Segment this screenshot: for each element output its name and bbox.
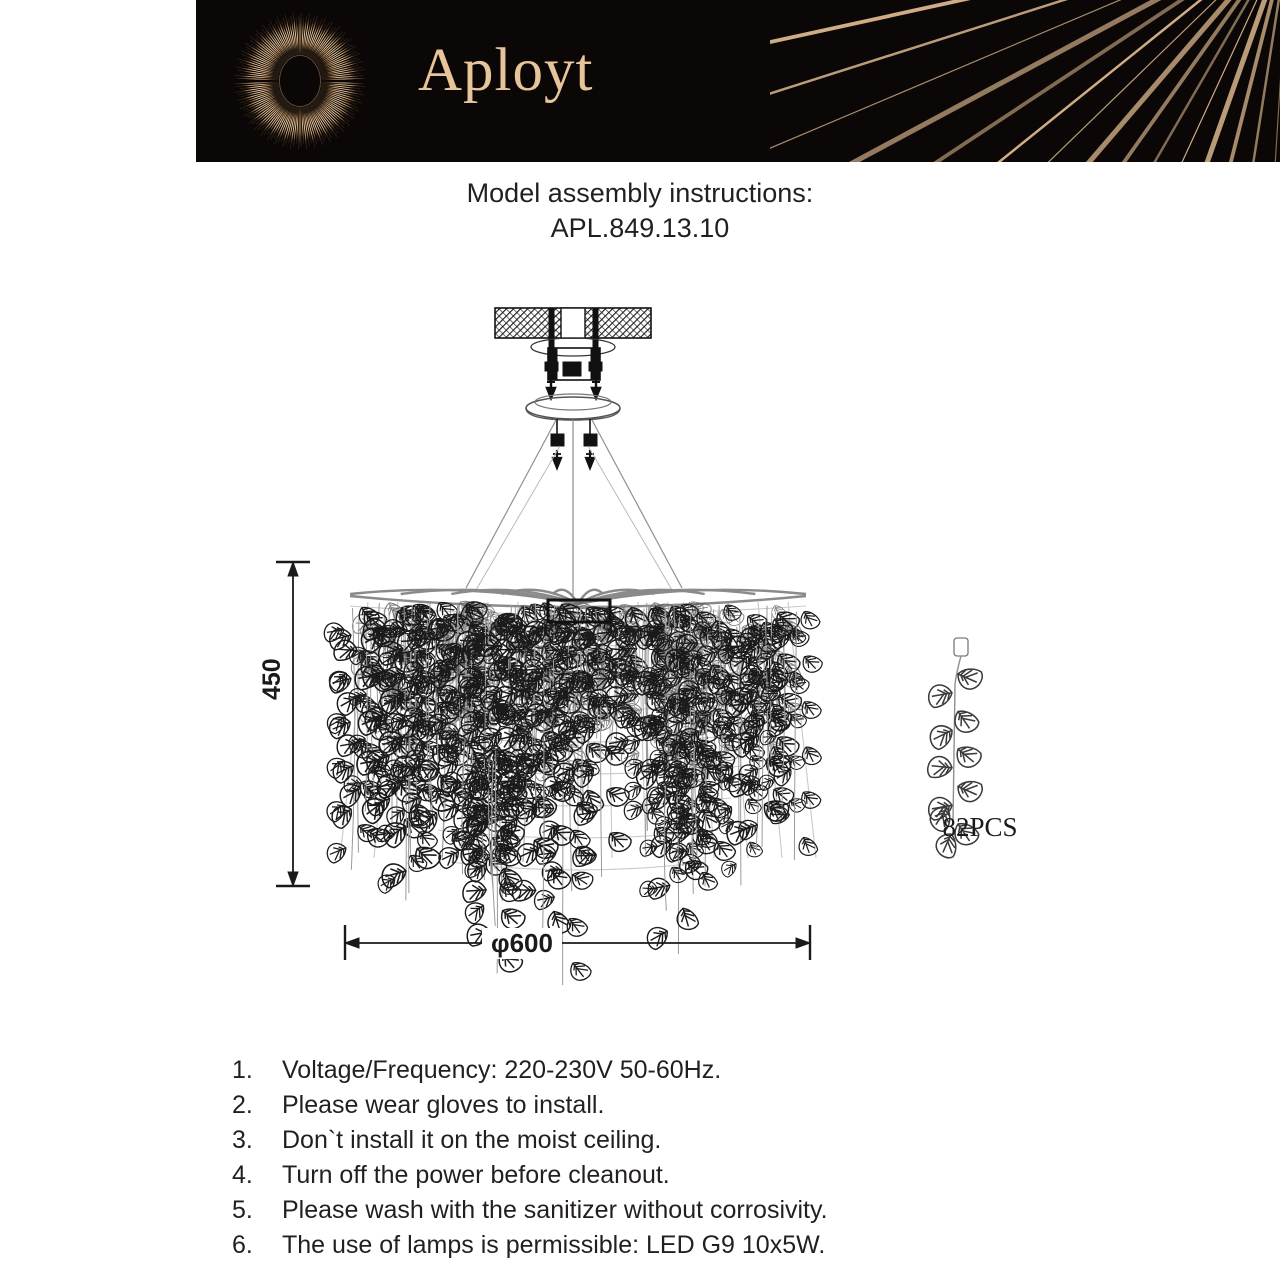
list-item-number: 4. [232,1161,282,1190]
list-item-text: Turn off the power before cleanout. [282,1161,670,1190]
suspension-cable-icon [466,420,682,615]
hatched-ceiling-plate-icon [495,308,651,338]
list-item: 1. Voltage/Frequency: 220-230V 50-60Hz. [232,1056,1232,1091]
instructions-list: 1. Voltage/Frequency: 220-230V 50-60Hz. … [232,1056,1232,1266]
title-line-2: APL.849.13.10 [0,211,1280,246]
list-item-text: Please wash with the sanitizer without c… [282,1196,828,1225]
page-title: Model assembly instructions: APL.849.13.… [0,176,1280,246]
list-item-text: The use of lamps is permissible: LED G9 … [282,1231,825,1260]
width-dimension-label: φ600 [482,928,562,959]
leaf-chandelier-icon [322,590,824,985]
ceiling-mount-group [466,308,682,615]
list-item-number: 1. [232,1056,282,1085]
title-line-1: Model assembly instructions: [0,176,1280,211]
list-item-number: 6. [232,1231,282,1260]
part-quantity-label: 82PCS [855,812,1105,843]
list-item-text: Don`t install it on the moist ceiling. [282,1126,661,1155]
height-dimension-line [276,562,310,886]
brand-wordmark: Aployt [418,36,593,106]
list-item: 4. Turn off the power before cleanout. [232,1161,1232,1196]
list-item-number: 2. [232,1091,282,1120]
list-item-number: 3. [232,1126,282,1155]
radial-rays-icon [770,0,1280,162]
assembly-drawing [0,270,1280,990]
dropper-group [551,419,597,468]
height-dimension-label: 450 [258,658,287,700]
header-banner: Aployt [196,0,1280,162]
list-item-text: Please wear gloves to install. [282,1091,604,1120]
list-item-text: Voltage/Frequency: 220-230V 50-60Hz. [282,1056,721,1085]
list-item: 6. The use of lamps is permissible: LED … [232,1231,1232,1266]
list-item: 5. Please wash with the sanitizer withou… [232,1196,1232,1231]
canopy-disc-icon [526,394,620,420]
list-item-number: 5. [232,1196,282,1225]
list-item: 3. Don`t install it on the moist ceiling… [232,1126,1232,1161]
list-item: 2. Please wear gloves to install. [232,1091,1232,1126]
sunburst-logo-icon [232,13,368,149]
